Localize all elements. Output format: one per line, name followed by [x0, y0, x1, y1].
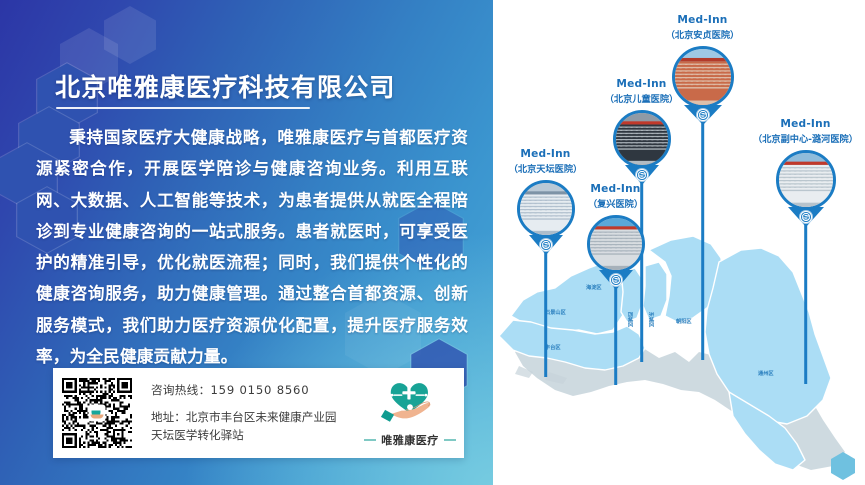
map-pin-stem	[804, 224, 808, 384]
map-pin-photo	[517, 180, 575, 238]
brand-name-row: 唯雅康医疗	[364, 432, 456, 448]
address-row-1: 地址：北京市丰台区未来健康产业园	[151, 408, 364, 427]
contact-card: 咨询热线：159 0150 8560 地址：北京市丰台区未来健康产业园 天坛医学…	[53, 368, 464, 458]
map-pin-tongzhou[interactable]: Med-Inn（北京副中心-潞河医院）	[805, 0, 806, 485]
address-line-1: 北京市丰台区未来健康产业园	[186, 410, 337, 424]
hotline-number: 159 0150 8560	[210, 383, 309, 397]
map-pin-badge-icon	[800, 211, 812, 223]
map-pin-label-cn: （北京安贞医院）	[666, 27, 740, 41]
map-pin-label-en: Med-Inn	[509, 148, 583, 160]
map-pin-stem	[614, 287, 618, 385]
brand-dash-left-icon	[364, 439, 376, 440]
brand-logo: 唯雅康医疗	[364, 374, 456, 452]
qr-code[interactable]	[62, 378, 132, 448]
map-pin-label-cn: （北京副中心-潞河医院）	[753, 131, 858, 145]
map-pin-label-en: Med-Inn	[666, 14, 740, 26]
address-label: 地址：	[151, 410, 186, 424]
map-pin-anzhen[interactable]: Med-Inn（北京安贞医院）	[702, 0, 703, 485]
map-pin-label-cn: （北京天坛医院）	[509, 161, 583, 175]
company-intro-panel: 北京唯雅康医疗科技有限公司 秉持国家医疗大健康战略，唯雅康医疗与首都医疗资源紧密…	[0, 0, 493, 485]
map-pin-photo	[672, 46, 734, 108]
district-label: 通州区	[758, 370, 774, 377]
map-pin-badge-icon	[636, 169, 648, 181]
district-label: 西城区	[626, 312, 633, 328]
district-label: 东城区	[647, 312, 654, 328]
district-label: 石景山区	[545, 309, 566, 316]
map-pin-fuxing[interactable]: Med-Inn（复兴医院）	[615, 0, 616, 485]
district-label: 丰台区	[545, 344, 561, 351]
map-pin-label: Med-Inn（北京副中心-潞河医院）	[753, 118, 858, 145]
brand-name: 唯雅康医疗	[381, 432, 439, 448]
hotline-label: 咨询热线：	[151, 383, 210, 397]
poster-root: 北京唯雅康医疗科技有限公司 秉持国家医疗大健康战略，唯雅康医疗与首都医疗资源紧密…	[0, 0, 865, 485]
address-line-2: 天坛医学转化驿站	[151, 428, 244, 442]
company-description: 秉持国家医疗大健康战略，唯雅康医疗与首都医疗资源紧密合作，开展医学陪诊与健康咨询…	[36, 122, 468, 372]
map-pin-stem	[544, 252, 548, 377]
beijing-map-panel: 海淀区石景山区丰台区西城区东城区朝阳区通州区 Med-Inn（北京天坛医院）Me…	[493, 0, 865, 485]
map-pin-badge-icon	[610, 274, 622, 286]
title-divider	[56, 107, 310, 109]
page-title: 北京唯雅康医疗科技有限公司	[55, 68, 396, 104]
district-label: 朝阳区	[676, 318, 692, 325]
contact-details: 咨询热线：159 0150 8560 地址：北京市丰台区未来健康产业园 天坛医学…	[151, 381, 364, 445]
heart-in-hand-icon	[375, 376, 445, 430]
qr-center-logo-icon	[89, 405, 106, 422]
map-pin-label: Med-Inn（复兴医院）	[588, 183, 643, 210]
hotline-row: 咨询热线：159 0150 8560	[151, 381, 364, 400]
map-pin-photo	[776, 150, 836, 210]
map-pin-tiantan[interactable]: Med-Inn（北京天坛医院）	[545, 0, 546, 485]
map-pin-label-en: Med-Inn	[588, 183, 643, 195]
map-pin-badge-icon	[540, 239, 552, 251]
map-pin-label-cn: （复兴医院）	[588, 196, 643, 210]
map-pin-label-en: Med-Inn	[753, 118, 858, 130]
address-row-2: 天坛医学转化驿站	[151, 426, 364, 445]
map-pin-label: Med-Inn（北京天坛医院）	[509, 148, 583, 175]
map-pin-stem	[701, 122, 705, 360]
brand-dash-right-icon	[444, 439, 456, 440]
map-pin-photo	[587, 215, 645, 273]
map-pin-label: Med-Inn（北京安贞医院）	[666, 14, 740, 41]
map-pin-badge-icon	[697, 109, 709, 121]
hexagon-icon	[104, 6, 156, 64]
map-pin-photo	[613, 110, 671, 168]
